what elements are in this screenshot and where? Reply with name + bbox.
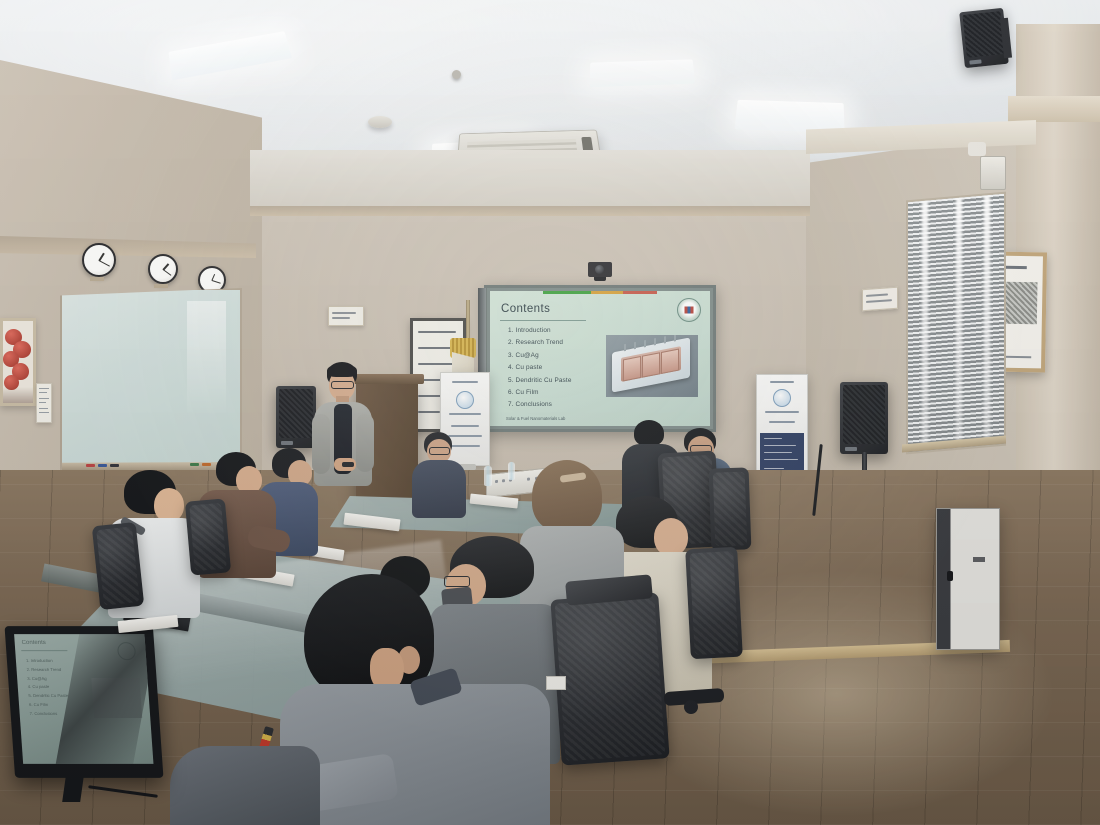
monitor-glare [54, 634, 153, 764]
back-wall-upper-band [250, 150, 810, 212]
slide-item: 4. Cu paste [508, 364, 600, 371]
storage-cabinet[interactable] [936, 508, 1000, 650]
wall-clock-1 [82, 243, 116, 277]
slide-item: 1. Introduction [508, 327, 600, 334]
camera-mount [594, 277, 606, 281]
company-logo-icon [456, 391, 474, 409]
slide-footer: Solar & Fuel Nanomaterials Lab [506, 416, 565, 421]
wall-clock-2 [148, 254, 178, 284]
wall-clock-2-label [154, 284, 168, 288]
power-module-illustration [612, 337, 690, 392]
slide-contents-list: 1. Introduction 2. Research Trend 3. Cu@… [508, 327, 600, 414]
slide-item: 2. Research Trend [508, 339, 600, 346]
presenter-hair-top [327, 364, 357, 377]
apple-still-life-painting [0, 318, 36, 406]
window-with-blinds [906, 192, 1006, 455]
emergency-light [980, 156, 1006, 190]
back-wall-rail [250, 206, 810, 216]
slide-item: 5. Dendritic Cu Paste [508, 377, 600, 384]
monitor-slide-title: Contents [22, 640, 46, 646]
slide-title: Contents [501, 303, 550, 315]
wall-notice [36, 383, 52, 423]
certificate-caption [1003, 356, 1031, 358]
company-logo-icon [773, 389, 791, 407]
ceiling-light-5 [590, 59, 695, 87]
water-bottle-2[interactable] [508, 462, 515, 480]
cabinet-handle[interactable] [947, 571, 953, 581]
office-chair-center-2[interactable] [685, 547, 743, 660]
smoke-detector [368, 116, 392, 128]
office-chair-left-2[interactable] [185, 498, 231, 575]
office-chair-left-1[interactable] [92, 522, 145, 610]
projection-screen: Contents 1. Introduction 2. Research Tre… [484, 285, 716, 432]
attendee-head [154, 488, 184, 522]
marker-black[interactable] [110, 464, 119, 467]
pillar-cap [1008, 96, 1100, 122]
water-bottle[interactable] [484, 466, 492, 486]
painting-shadow [3, 387, 33, 403]
projected-slide: Contents 1. Introduction 2. Research Tre… [490, 291, 710, 426]
slide-item: 6. Cu Film [508, 389, 600, 396]
glass-whiteboard[interactable] [60, 288, 242, 477]
desk-monitor[interactable]: Contents 1. Introduction 2. Research Tre… [5, 626, 164, 778]
module-substrate [621, 346, 681, 382]
slide-title-rule [500, 320, 586, 321]
office-chair-center-1[interactable] [550, 592, 669, 765]
attendee-glasses [429, 447, 450, 455]
marker-red[interactable] [86, 464, 95, 467]
attendee-top [170, 746, 320, 825]
wall-plaque-right [862, 287, 898, 312]
whiteboard-glare [187, 301, 226, 416]
pa-speaker-right-tripod [840, 382, 888, 454]
slide-item: 3. Cu@Ag [508, 352, 600, 359]
monitor-stand [62, 776, 84, 802]
monitor-title-rule [21, 650, 67, 651]
attendee-hair [634, 420, 664, 446]
slide-item: 7. Conclusions [508, 401, 600, 408]
sprinkler-head-1 [452, 70, 461, 79]
attendee-foreground-left [170, 736, 320, 825]
slide-color-band [543, 291, 657, 294]
marker-blue[interactable] [98, 464, 107, 467]
wall-camera-icon [588, 262, 612, 277]
university-emblem-icon [677, 298, 701, 322]
wall-plaque-left [328, 306, 364, 326]
monitor-screen: Contents 1. Introduction 2. Research Tre… [14, 634, 153, 764]
cabinet-label [973, 557, 985, 562]
attendee-seated-desk [412, 432, 470, 520]
ceiling-light-3 [734, 100, 844, 133]
conference-room-screenshot: Contents 1. Introduction 2. Research Tre… [0, 0, 1100, 825]
wall-clock-1-label [90, 277, 104, 281]
wall-sensor [968, 142, 986, 156]
presenter-right-arm [356, 414, 374, 472]
presentation-clicker[interactable] [342, 462, 354, 467]
chair-caster [684, 700, 698, 714]
presenter-glasses [331, 381, 354, 389]
attendee-head [654, 518, 688, 556]
attendee-top [412, 460, 466, 518]
attendee-hair-dyed [532, 460, 602, 532]
certificate-image [1003, 282, 1038, 325]
slide-device-photo [606, 335, 698, 397]
certificate-heading [1005, 266, 1027, 269]
